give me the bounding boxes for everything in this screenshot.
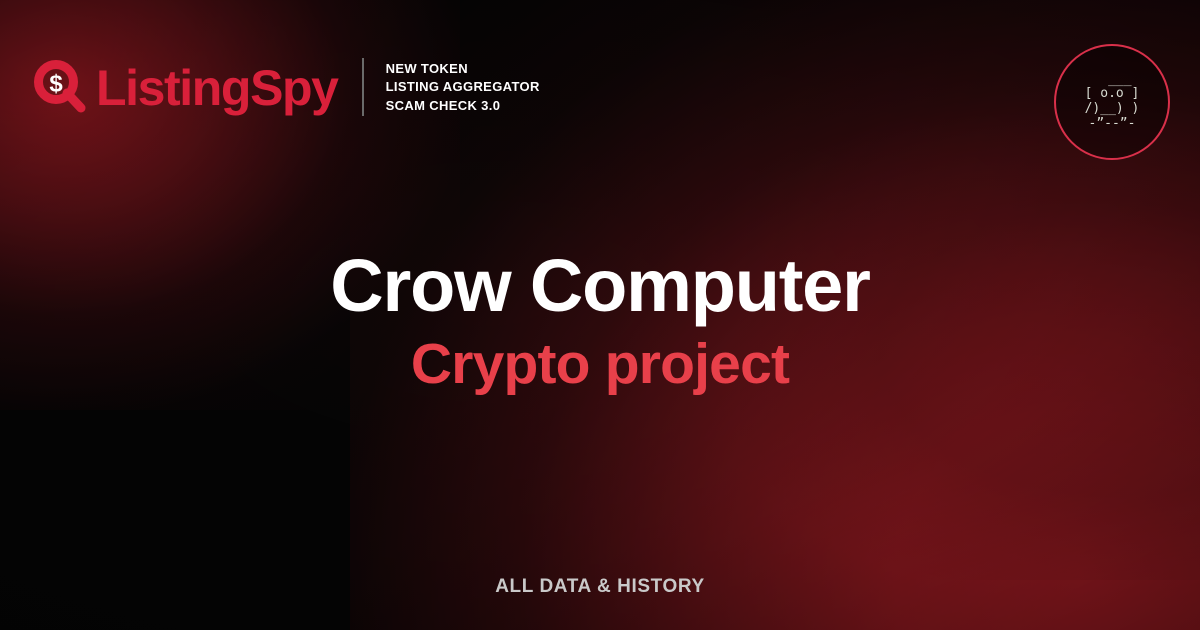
magnifier-dollar-icon: $ [34, 60, 88, 114]
avatar-ascii-art: ___ [ o.o ] /)__) ) -”--”- [1085, 73, 1140, 131]
footer-caption: ALL DATA & HISTORY [0, 576, 1200, 598]
tagline-line-3: SCAM CHECK 3.0 [386, 98, 540, 113]
brand-tagline: NEW TOKEN LISTING AGGREGATOR SCAM CHECK … [386, 61, 540, 113]
tagline-line-1: NEW TOKEN [386, 61, 540, 76]
ascii-face-avatar-icon: ___ [ o.o ] /)__) ) -”--”- [1054, 44, 1170, 160]
header-divider [362, 58, 364, 116]
brand-wordmark: ListingSpy [96, 63, 338, 113]
tagline-line-2: LISTING AGGREGATOR [386, 79, 540, 94]
brand-header: $ ListingSpy NEW TOKEN LISTING AGGREGATO… [34, 52, 540, 122]
page-title: Crow Computer [0, 248, 1200, 323]
social-card: $ ListingSpy NEW TOKEN LISTING AGGREGATO… [0, 0, 1200, 630]
svg-text:$: $ [49, 71, 63, 98]
page-subtitle: Crypto project [0, 335, 1200, 395]
hero-block: Crow Computer Crypto project [0, 248, 1200, 395]
